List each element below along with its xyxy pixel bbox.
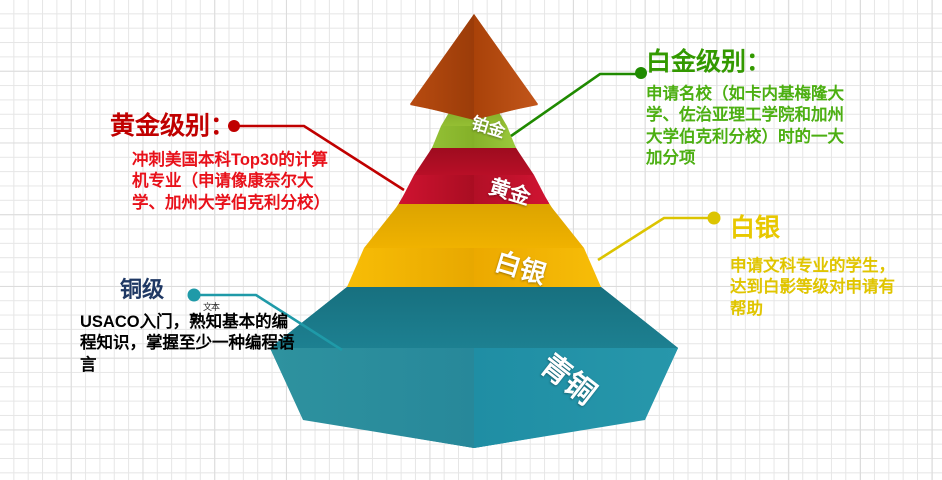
callout-bronze-body: USACO入门，熟知基本的编程知识，掌握至少一种编程语言: [80, 312, 295, 376]
callout-bronze-title: 铜级: [120, 272, 320, 304]
stray-text-placeholder-artifact: 文本: [203, 303, 219, 312]
silver-front-left: [347, 248, 474, 287]
apex-left: [410, 14, 474, 120]
plat-front-left: [432, 126, 474, 148]
callout-silver-body: 申请文科专业的学生，达到白影等级对申请有帮助: [730, 256, 902, 320]
bronze-top-2: [270, 287, 678, 348]
apex-right: [474, 14, 538, 120]
callout-gold: 黄金级别： 冲刺美国本科Top30的计算机专业（申请像康奈尔大学、加州大学伯克利…: [110, 106, 340, 214]
silver-cap: [364, 204, 584, 248]
callout-platinum: 白金级别： 申请名校（如卡内基梅隆大学、佐治亚理工学院和加州大学伯克利分校）时的…: [646, 42, 861, 170]
callout-silver-title: 白银: [730, 208, 930, 244]
callout-gold-title: 黄金级别：: [110, 106, 340, 142]
callout-platinum-body: 申请名校（如卡内基梅隆大学、佐治亚理工学院和加州大学伯克利分校）时的一大加分项: [646, 84, 852, 170]
callout-gold-body: 冲刺美国本科Top30的计算机专业（申请像康奈尔大学、加州大学伯克利分校）: [132, 150, 332, 214]
gold-top2: [414, 148, 534, 175]
callout-bronze: 铜级 USACO入门，熟知基本的编程知识，掌握至少一种编程语言: [80, 272, 320, 376]
callout-platinum-title: 白金级别：: [646, 42, 861, 78]
connector-silver-line: [598, 218, 710, 260]
connector-silver-dot: [708, 212, 721, 225]
connector-silver: [598, 212, 721, 261]
callout-silver: 白银 申请文科专业的学生，达到白影等级对申请有帮助: [730, 208, 930, 320]
gold-front-left: [399, 175, 474, 204]
